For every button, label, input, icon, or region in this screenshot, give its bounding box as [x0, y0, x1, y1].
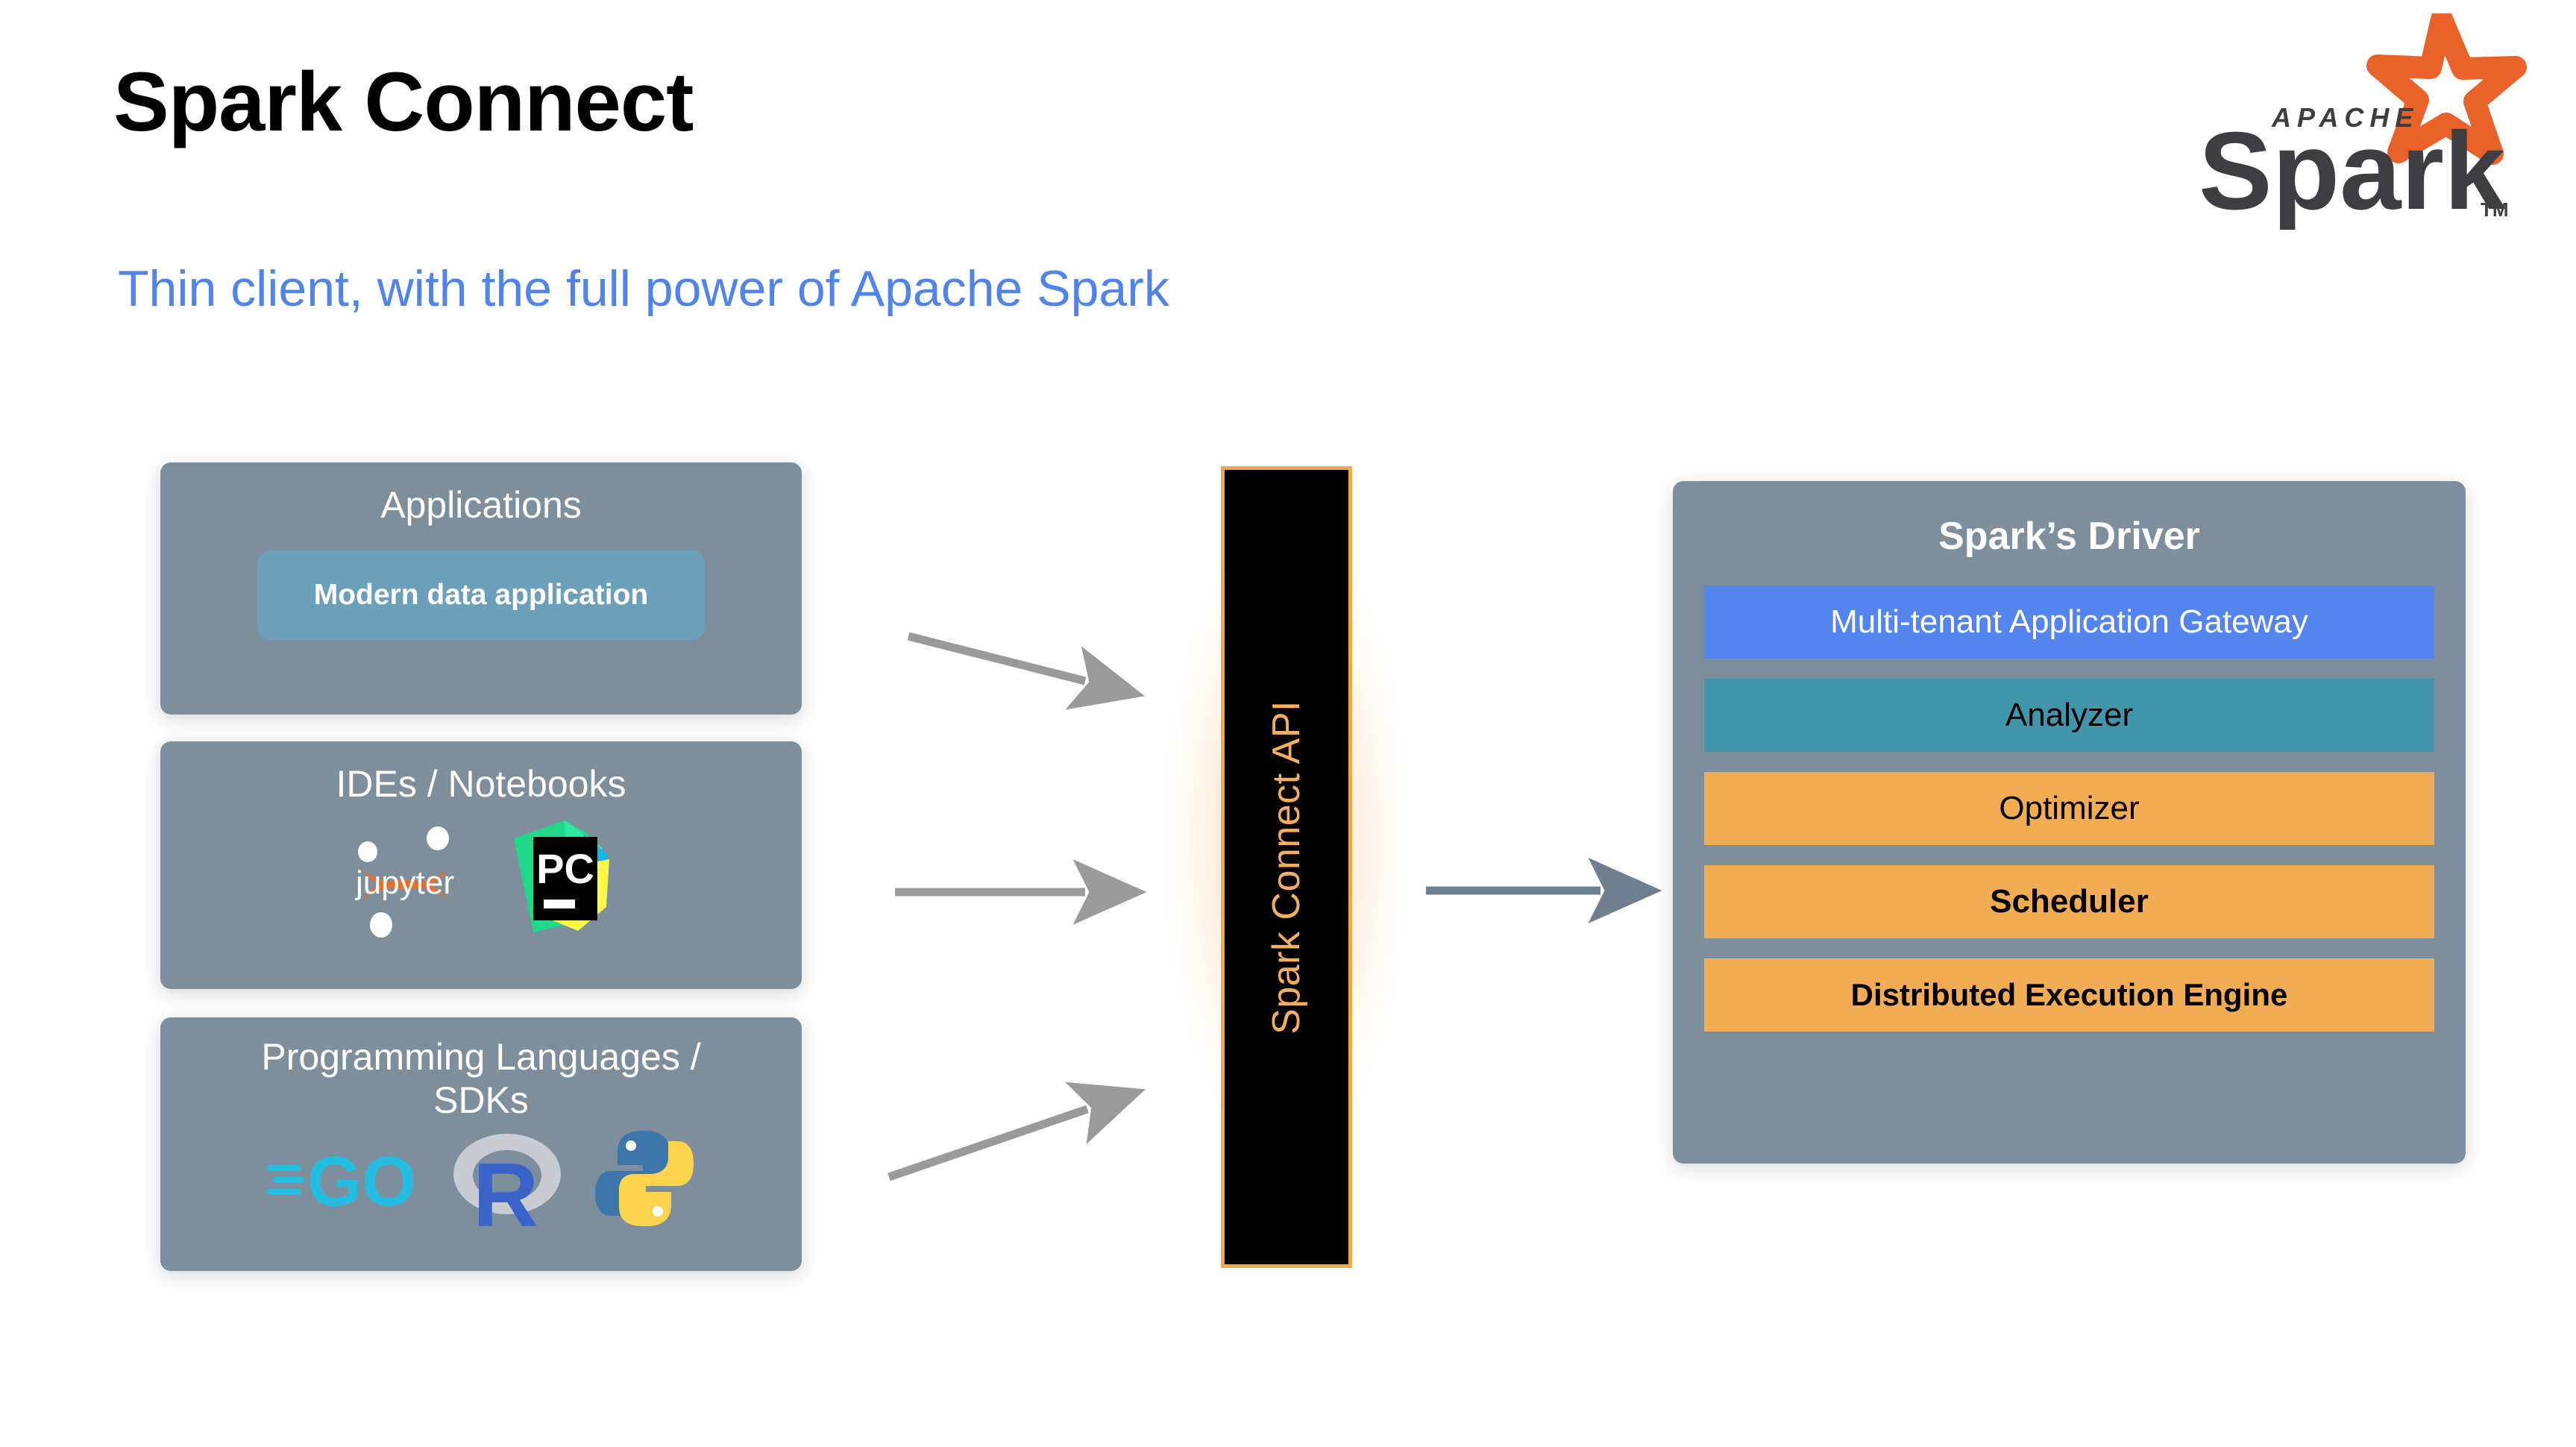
spark-driver-panel[interactable]: Spark’s Driver Multi-tenant Application …	[1673, 481, 2466, 1164]
driver-row-analyzer[interactable]: Analyzer	[1704, 679, 2434, 752]
slide-canvas: Spark Connect Thin client, with the full…	[0, 0, 2576, 1447]
logo-trademark: TM	[2481, 198, 2509, 221]
jupyter-dot-top	[427, 826, 449, 850]
ide-logo-row: jupyter PC	[160, 813, 802, 942]
card-title-ides-notebooks: IDEs / Notebooks	[160, 762, 802, 806]
pycharm-underscore	[544, 900, 575, 908]
driver-row-scheduler[interactable]: Scheduler	[1704, 865, 2434, 938]
python-upper-eye	[626, 1140, 636, 1151]
go-wordmark: GO	[307, 1142, 416, 1220]
jupyter-wordmark: jupyter	[354, 864, 454, 901]
spark-connect-api-label: Spark Connect API	[1264, 700, 1309, 1035]
driver-component-stack: Multi-tenant Application Gateway Analyze…	[1673, 586, 2466, 1032]
client-card-ides-notebooks[interactable]: IDEs / Notebooks jupyter	[160, 741, 802, 989]
go-speed-line-1	[267, 1165, 301, 1171]
jupyter-dot-left	[358, 841, 377, 862]
python-icon	[592, 1126, 697, 1234]
jupyter-dot-bottom	[370, 912, 392, 938]
page-subtitle: Thin client, with the full power of Apac…	[118, 260, 1169, 318]
jupyter-icon: jupyter	[342, 813, 468, 942]
go-speed-line-2	[273, 1177, 304, 1183]
spark-connect-api-bar[interactable]: Spark Connect API	[1221, 466, 1352, 1268]
logo-wordmark: Spark	[2199, 110, 2506, 230]
driver-row-optimizer[interactable]: Optimizer	[1704, 772, 2434, 845]
card-title-line1: Programming Languages /	[261, 1036, 700, 1078]
r-icon: R	[447, 1126, 567, 1234]
driver-row-distributed-execution-engine[interactable]: Distributed Execution Engine	[1704, 958, 2434, 1032]
page-title: Spark Connect	[113, 54, 693, 150]
go-icon: GO	[266, 1134, 422, 1227]
go-speed-line-3	[267, 1189, 301, 1195]
pycharm-wordmark: PC	[536, 845, 594, 892]
apache-spark-logo-svg: APACHE Spark TM	[2158, 13, 2531, 230]
arrow-languages-to-api	[889, 1109, 1087, 1177]
card-title-line2: SDKs	[433, 1079, 529, 1121]
card-title-applications: Applications	[160, 483, 802, 527]
language-logo-row: GO R	[160, 1126, 802, 1234]
r-wordmark: R	[473, 1144, 538, 1231]
client-card-programming-languages-sdks[interactable]: Programming Languages / SDKs GO R	[160, 1017, 802, 1271]
card-title-programming-languages-sdks: Programming Languages / SDKs	[160, 1035, 802, 1122]
modern-data-application-pill[interactable]: Modern data application	[257, 550, 705, 640]
apache-spark-logo: APACHE Spark TM	[2158, 13, 2531, 230]
driver-row-multi-tenant-application-gateway[interactable]: Multi-tenant Application Gateway	[1704, 586, 2434, 659]
python-lower-eye	[653, 1206, 663, 1217]
client-card-applications[interactable]: Applications Modern data application	[160, 462, 802, 715]
pycharm-icon: PC	[506, 813, 620, 942]
arrow-applications-to-api	[908, 636, 1085, 681]
spark-driver-title: Spark’s Driver	[1673, 514, 2466, 559]
